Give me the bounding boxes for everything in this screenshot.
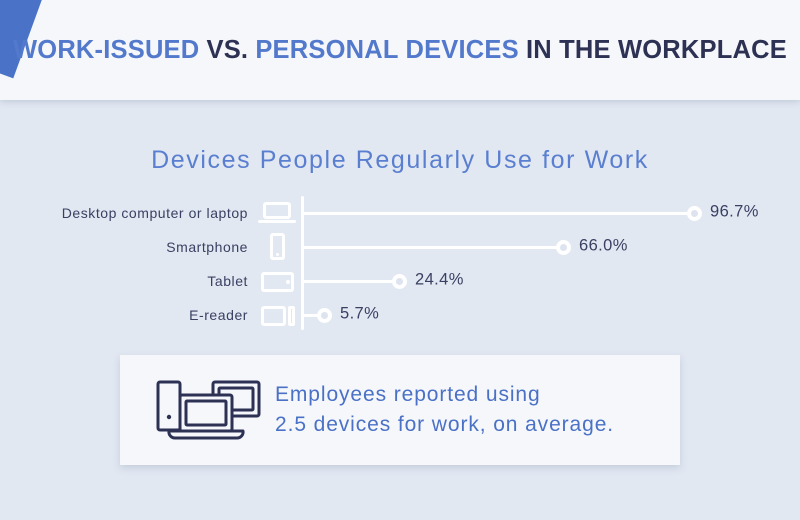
- ereader-icon: [258, 298, 298, 332]
- marker-desktop: [687, 206, 702, 221]
- laptop-icon: [258, 196, 298, 230]
- smartphone-icon: [258, 230, 298, 264]
- value-tablet: 24.4%: [415, 271, 464, 290]
- bar-desktop: [301, 212, 694, 215]
- tablet-icon: [258, 264, 298, 298]
- chart-title: Devices People Regularly Use for Work: [0, 146, 800, 175]
- row-label-smartphone: Smartphone: [0, 230, 248, 264]
- chart-row: Tablet 24.4%: [0, 264, 800, 298]
- bar-smartphone: [301, 246, 563, 249]
- callout-line-1: Employees reported using: [275, 380, 665, 410]
- title-part-4: IN THE WORKPLACE: [526, 36, 787, 65]
- device-usage-chart: Desktop computer or laptop 96.7% Smartph…: [0, 196, 800, 332]
- marker-tablet: [392, 274, 407, 289]
- header-banner: WORK-ISSUED VS. PERSONAL DEVICES IN THE …: [0, 0, 800, 100]
- marker-ereader: [317, 308, 332, 323]
- multi-device-icon: [153, 377, 265, 443]
- title-part-1: WORK-ISSUED: [13, 36, 199, 65]
- title-part-3: PERSONAL DEVICES: [255, 36, 518, 65]
- chart-row: Smartphone 66.0%: [0, 230, 800, 264]
- summary-callout: Employees reported using 2.5 devices for…: [120, 355, 680, 465]
- title-part-2: VS.: [207, 36, 249, 65]
- value-desktop: 96.7%: [710, 203, 759, 222]
- value-ereader: 5.7%: [340, 305, 379, 324]
- marker-smartphone: [556, 240, 571, 255]
- callout-line-2: 2.5 devices for work, on average.: [275, 410, 665, 440]
- row-label-desktop: Desktop computer or laptop: [0, 196, 248, 230]
- page-title: WORK-ISSUED VS. PERSONAL DEVICES IN THE …: [0, 0, 800, 100]
- value-smartphone: 66.0%: [579, 237, 628, 256]
- bar-tablet: [301, 280, 399, 283]
- chart-row: E-reader 5.7%: [0, 298, 800, 332]
- chart-row: Desktop computer or laptop 96.7%: [0, 196, 800, 230]
- callout-text: Employees reported using 2.5 devices for…: [275, 377, 665, 443]
- row-label-tablet: Tablet: [0, 264, 248, 298]
- row-label-ereader: E-reader: [0, 298, 248, 332]
